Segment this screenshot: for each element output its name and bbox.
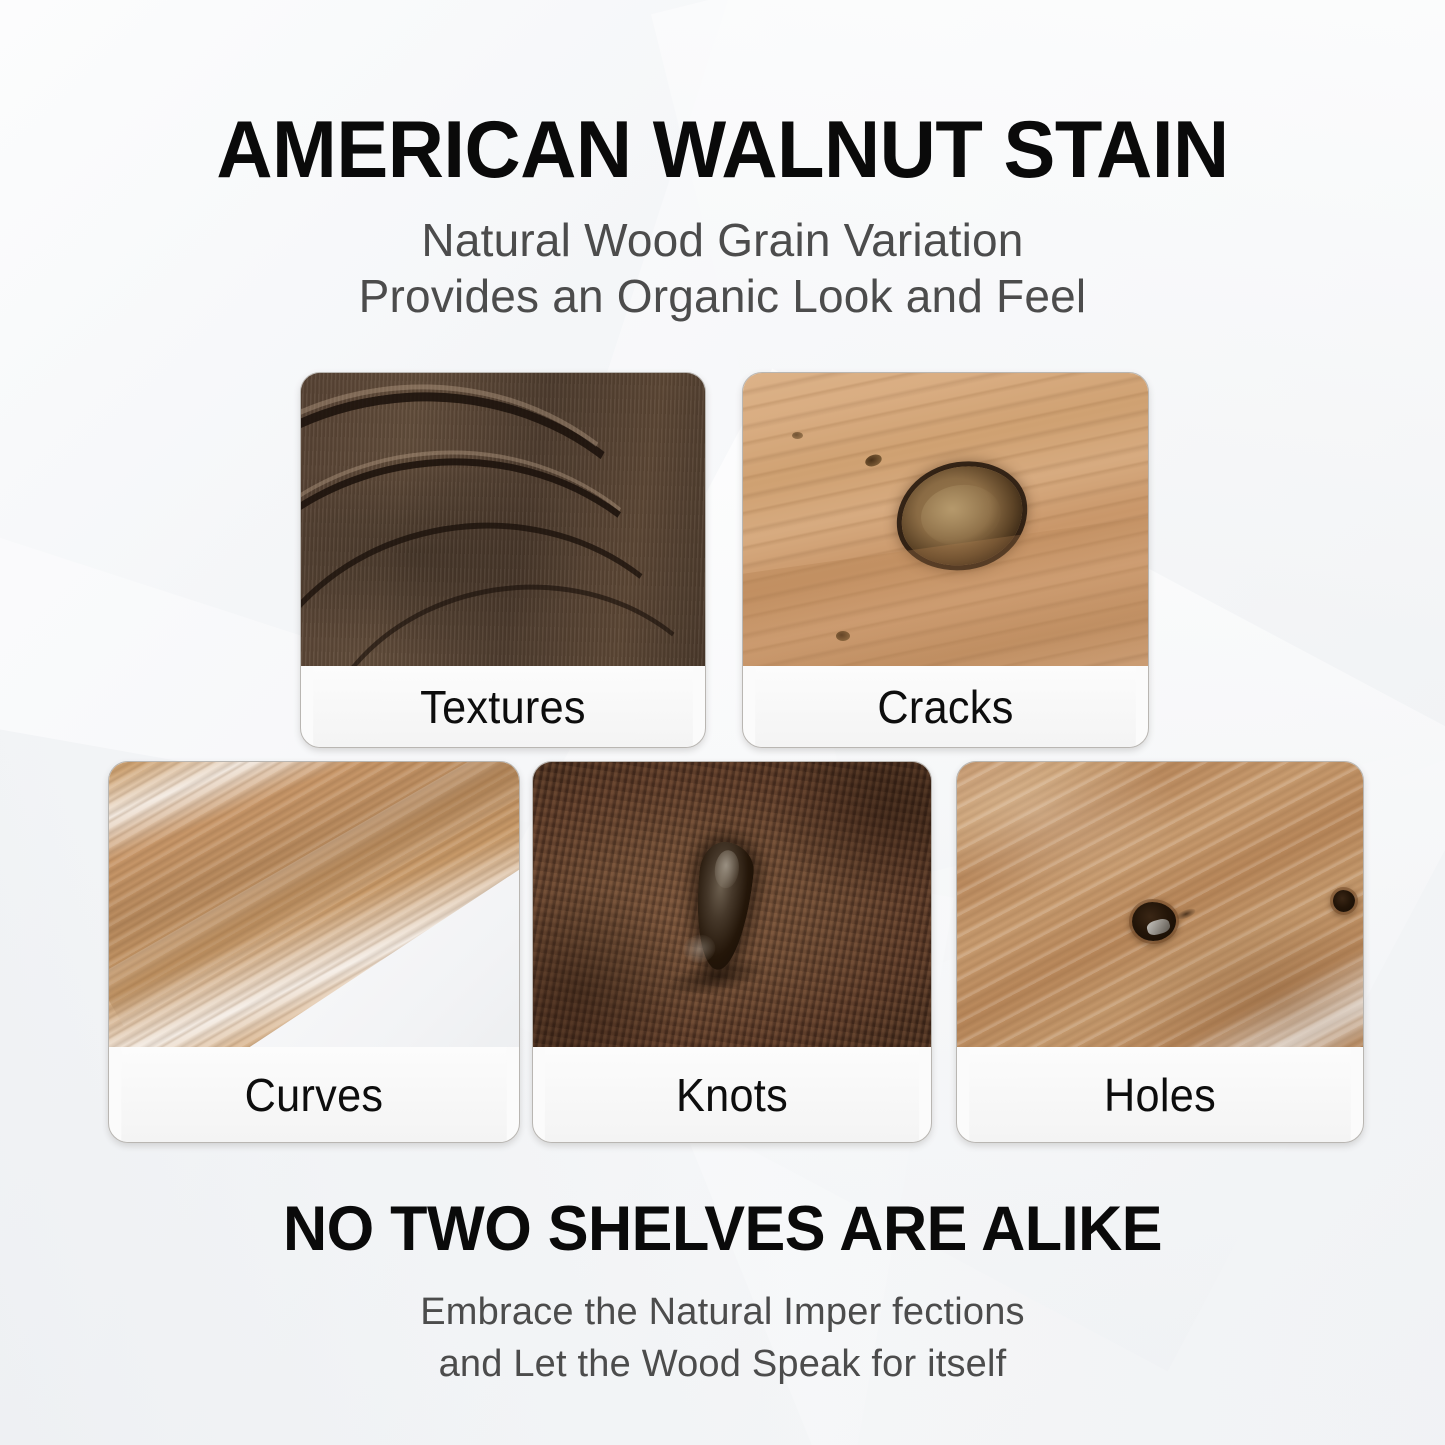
feature-card-cracks[interactable]: Cracks <box>742 372 1149 748</box>
small-grain-mark-a <box>863 452 883 468</box>
card-label-holes: Holes <box>969 1047 1351 1142</box>
wood-hole-streak <box>1175 907 1197 922</box>
knot-smudge <box>666 952 766 1001</box>
page-title: AMERICAN WALNUT STAIN <box>29 105 1416 195</box>
dark-vertical-knot <box>690 839 757 972</box>
feature-card-holes[interactable]: Holes <box>956 761 1364 1143</box>
card-label-cracks: Cracks <box>755 666 1136 747</box>
bottom-title: NO TWO SHELVES ARE ALIKE <box>22 1194 1424 1264</box>
photo-shelf-edge-curve <box>109 762 519 1047</box>
top-subtitle: Natural Wood Grain Variation Provides an… <box>0 212 1445 324</box>
wood-hole-secondary <box>1333 890 1355 912</box>
wood-hole-main <box>1132 902 1176 941</box>
photo-dark-mottled-knot <box>533 762 931 1047</box>
card-label-knots: Knots <box>545 1047 919 1142</box>
bottom-subtitle: Embrace the Natural Imper fections and L… <box>0 1286 1445 1390</box>
feature-card-curves[interactable]: Curves <box>108 761 520 1143</box>
small-grain-mark-c <box>792 432 803 439</box>
photo-light-wood-knot <box>743 373 1148 666</box>
photo-tan-grain-hole <box>957 762 1363 1047</box>
top-subtitle-line-2: Provides an Organic Look and Feel <box>0 268 1445 324</box>
card-label-curves: Curves <box>121 1047 506 1142</box>
top-subtitle-line-1: Natural Wood Grain Variation <box>0 212 1445 268</box>
photo-dark-walnut-texture <box>301 373 705 666</box>
oval-knot <box>895 459 1029 573</box>
small-grain-mark-b <box>836 631 850 641</box>
feature-card-knots[interactable]: Knots <box>532 761 932 1143</box>
product-infographic-poster: AMERICAN WALNUT STAIN Natural Wood Grain… <box>0 0 1445 1445</box>
bottom-subtitle-line-1: Embrace the Natural Imper fections <box>0 1286 1445 1338</box>
bottom-subtitle-line-2: and Let the Wood Speak for itself <box>0 1338 1445 1390</box>
feature-card-textures[interactable]: Textures <box>300 372 706 748</box>
card-label-textures: Textures <box>313 666 693 747</box>
